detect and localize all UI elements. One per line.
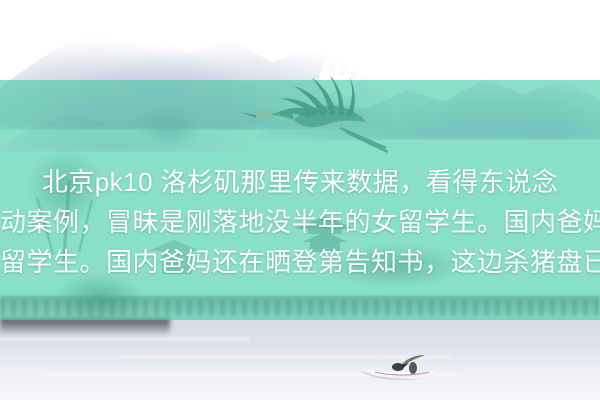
caption-line-3: 留学生。国内爸妈还在晒登第告知书，这边杀猪盘已: [0, 242, 600, 282]
caption-text-block: 北京pk10 洛杉矶那里传来数据，看得东说念 动案例，冒昧是刚落地没半年的女留学…: [0, 162, 600, 282]
sampan-boat-icon: [355, 348, 453, 388]
caption-line-2: 动案例，冒昧是刚落地没半年的女留学生。国内爸妈: [0, 202, 600, 242]
caption-line-1: 北京pk10 洛杉矶那里传来数据，看得东说念: [0, 162, 600, 202]
image-canvas: 北京pk10 洛杉矶那里传来数据，看得东说念 动案例，冒昧是刚落地没半年的女留学…: [0, 0, 600, 400]
water-dark-reflection: [0, 318, 170, 336]
perched-bird-icon: [373, 355, 425, 371]
water-streak: [0, 338, 250, 340]
